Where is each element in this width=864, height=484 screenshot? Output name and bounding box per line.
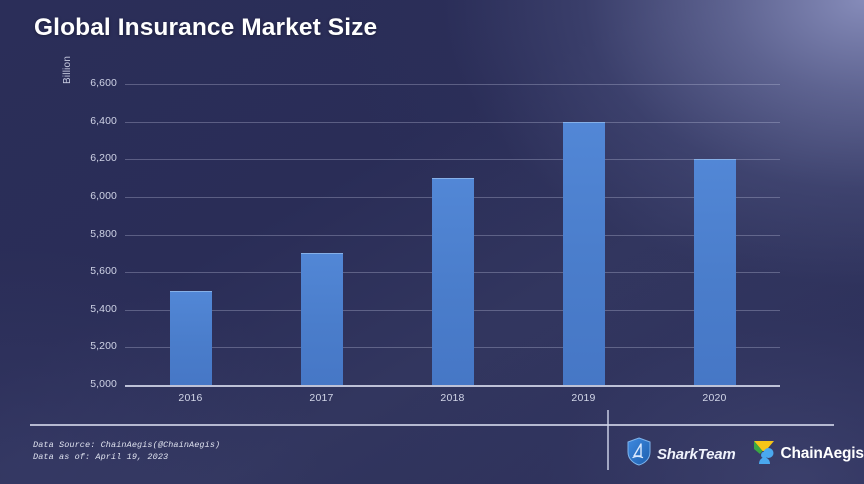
x-axis-tick-label: 2019 xyxy=(524,392,644,404)
footer-separator xyxy=(30,424,834,426)
y-axis-tick-label: 6,400 xyxy=(57,115,117,127)
footer-vertical-divider xyxy=(607,410,609,470)
chainaegis-mark-icon xyxy=(752,438,776,471)
data-source-line: Data Source: ChainAegis(@ChainAegis) xyxy=(33,440,220,452)
logo-row: SharkTeam ChainAegis xyxy=(626,437,864,471)
x-axis-tick-label: 2018 xyxy=(393,392,513,404)
chart-bar[interactable] xyxy=(170,291,212,385)
y-axis-tick-label: 6,200 xyxy=(57,152,117,164)
data-source-block: Data Source: ChainAegis(@ChainAegis) Dat… xyxy=(33,440,220,463)
chart-bar[interactable] xyxy=(694,159,736,385)
chainaegis-wordmark: ChainAegis xyxy=(781,445,864,463)
x-axis-line xyxy=(125,385,780,387)
x-axis-tick-label: 2020 xyxy=(655,392,775,404)
x-axis-tick-label: 2017 xyxy=(262,392,382,404)
slide-background: Global Insurance Market Size Billion 5,0… xyxy=(0,0,864,484)
x-axis-tick-label: 2016 xyxy=(131,392,251,404)
y-axis-tick-label: 5,400 xyxy=(57,303,117,315)
y-axis-tick-label: 5,600 xyxy=(57,265,117,277)
chart-bar[interactable] xyxy=(563,122,605,385)
shield-sail-icon xyxy=(626,437,652,471)
y-axis-tick-label: 5,000 xyxy=(57,378,117,390)
sharkteam-wordmark: SharkTeam xyxy=(657,446,736,463)
y-axis-tick-label: 5,800 xyxy=(57,228,117,240)
y-axis-tick-label: 6,600 xyxy=(57,77,117,89)
chart-bar[interactable] xyxy=(432,178,474,385)
gridline xyxy=(125,122,780,123)
y-axis-tick-label: 6,000 xyxy=(57,190,117,202)
y-axis-tick-label: 5,200 xyxy=(57,340,117,352)
gridline xyxy=(125,159,780,160)
sharkteam-logo[interactable]: SharkTeam xyxy=(626,437,736,471)
chainaegis-logo[interactable]: ChainAegis xyxy=(752,438,864,471)
data-asof-line: Data as of: April 19, 2023 xyxy=(33,452,220,464)
chart-bar[interactable] xyxy=(301,253,343,385)
gridline xyxy=(125,84,780,85)
